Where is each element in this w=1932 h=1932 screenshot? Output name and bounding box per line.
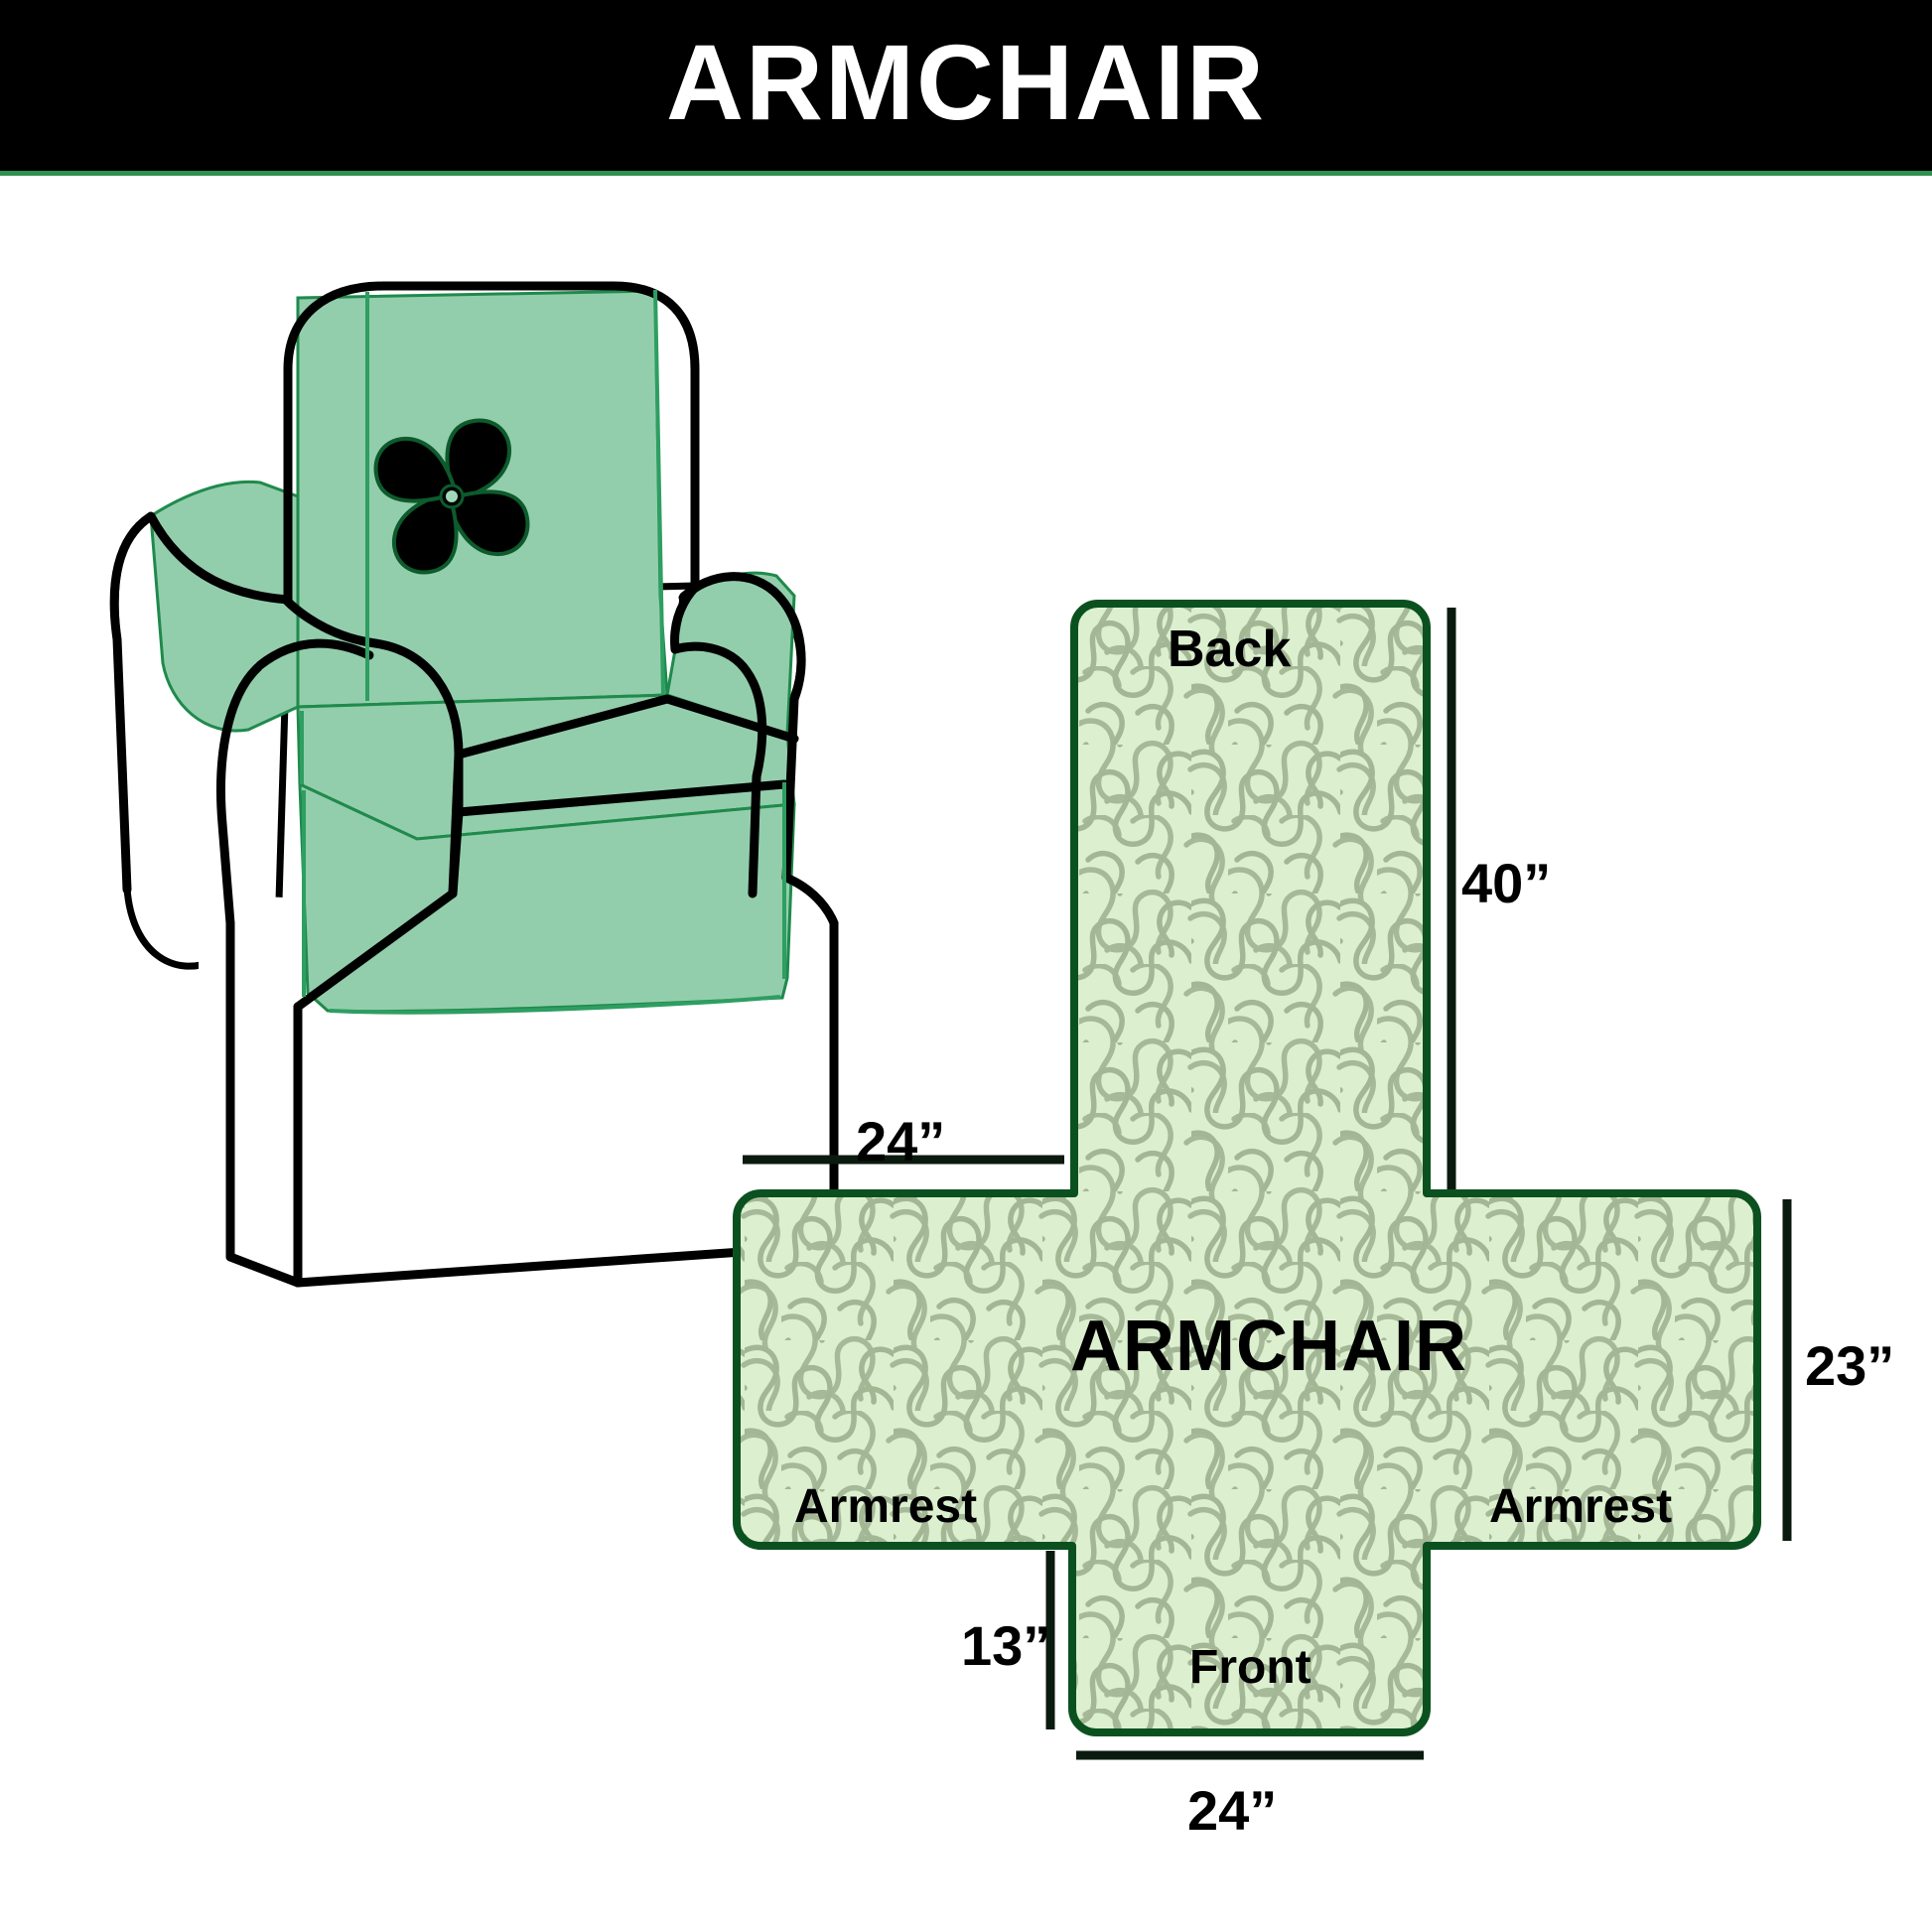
panel-label-armrest-left: Armrest [794, 1483, 977, 1531]
dimension-label-armrest-height: 23” [1805, 1338, 1894, 1394]
dimension-label-front-height: 13” [961, 1618, 1050, 1674]
armchair-illustration [114, 286, 834, 1283]
panel-label-front: Front [1189, 1644, 1311, 1692]
dimension-label-armrest-top: 24” [856, 1114, 945, 1170]
dimension-label-front-width: 24” [1187, 1783, 1277, 1839]
fan-icon [376, 421, 528, 573]
panel-label-center: ARMCHAIR [1070, 1311, 1467, 1382]
panel-label-back: Back [1168, 623, 1291, 675]
dimension-label-back-height: 40” [1461, 856, 1551, 911]
panel-label-armrest-right: Armrest [1489, 1483, 1672, 1531]
